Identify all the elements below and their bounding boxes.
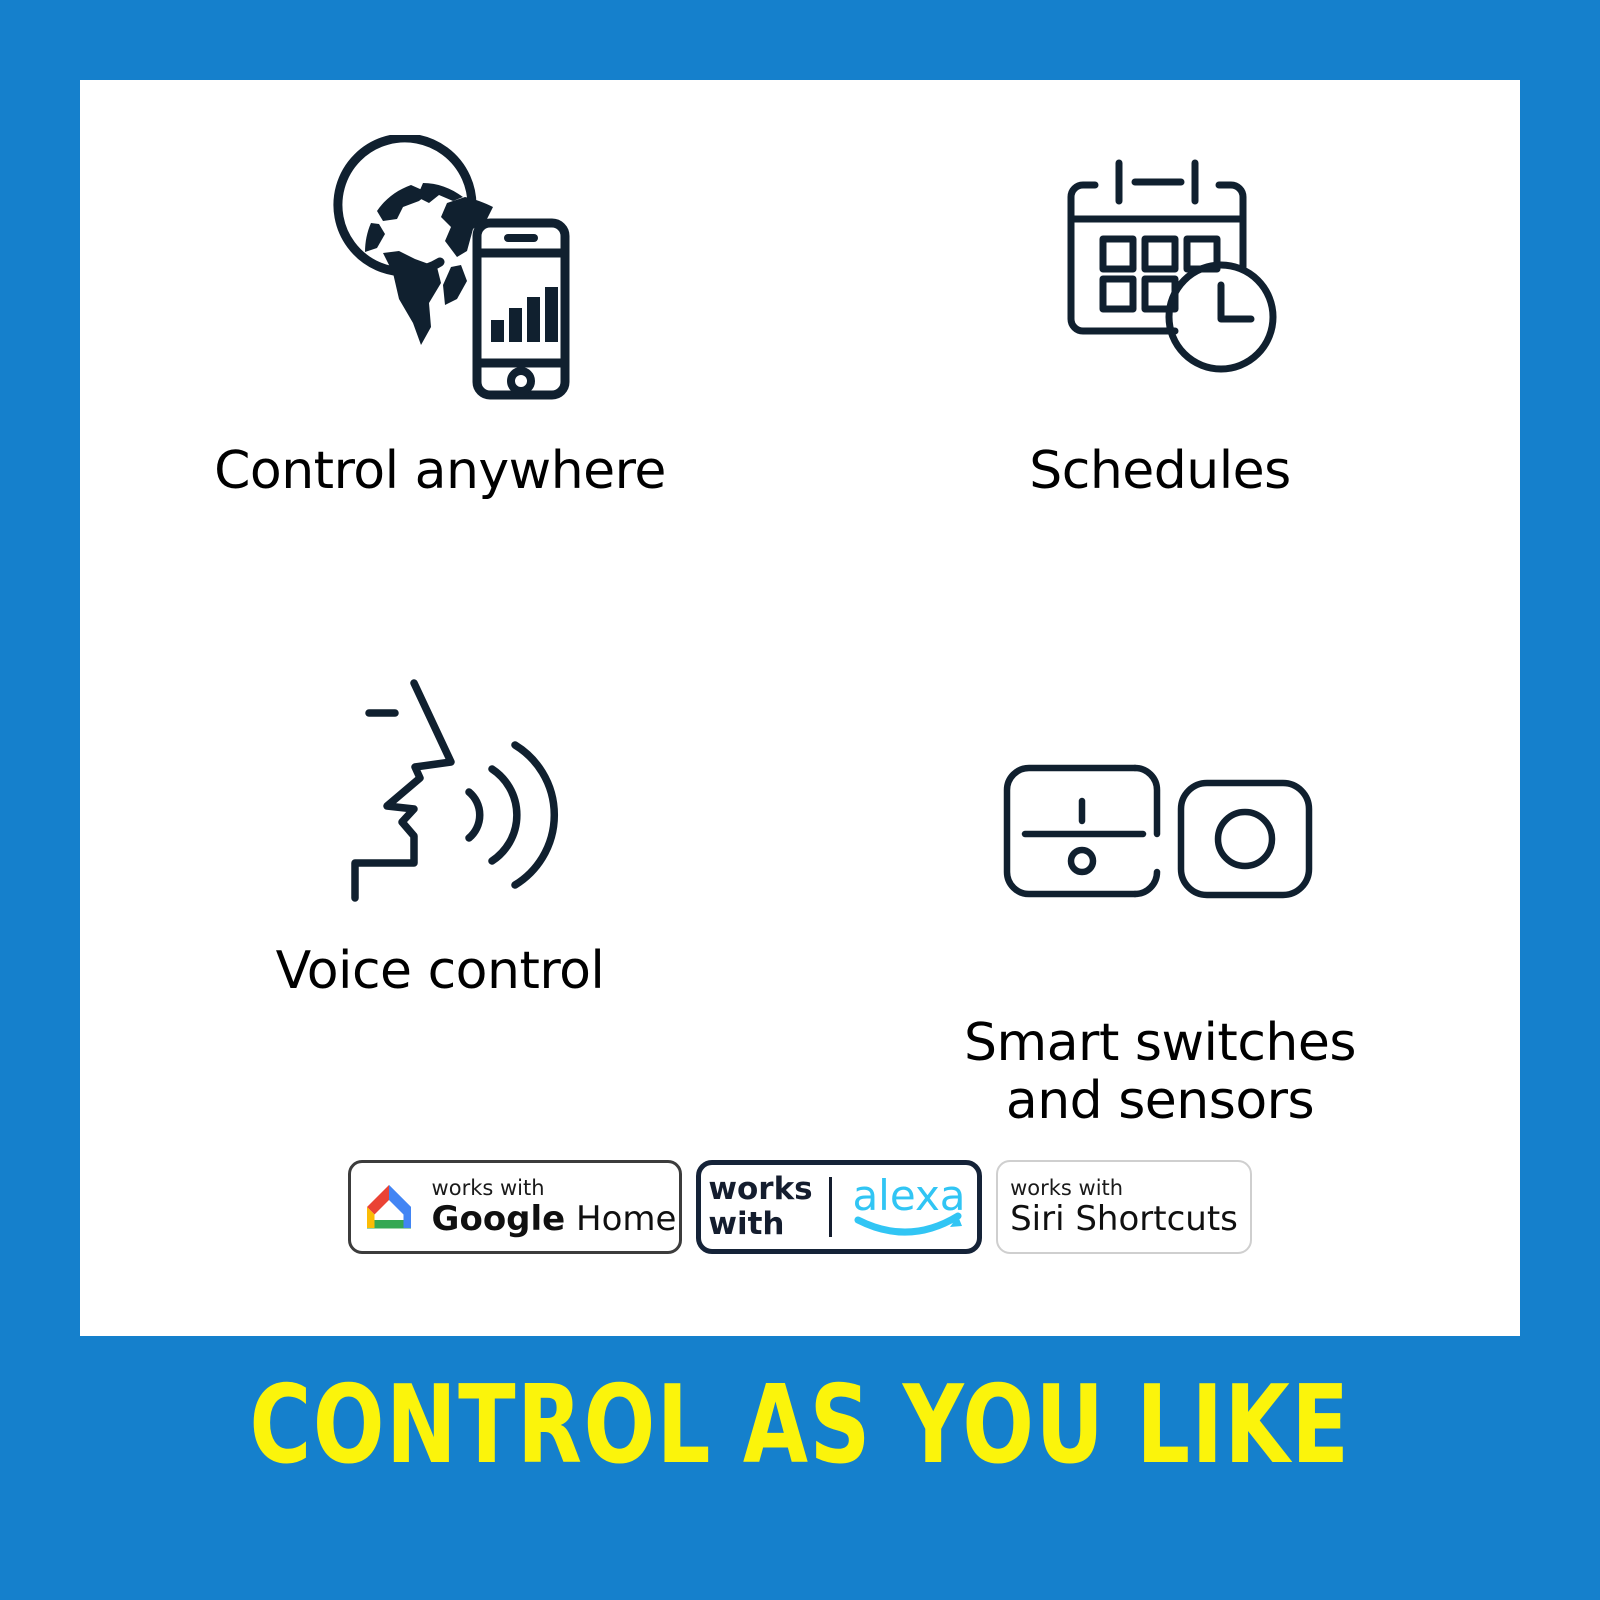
badge-brand-text: Siri Shortcuts (1010, 1202, 1238, 1238)
feature-label: Schedules (1029, 442, 1291, 500)
white-content-card: Control anywhere (80, 80, 1520, 1336)
home-word: Home (565, 1199, 676, 1239)
badge-brand-text: Google Home (432, 1202, 677, 1238)
feature-smart-switches-and-sensors: Smart switches and sensors (800, 596, 1520, 1130)
alexa-logo: alexa (848, 1174, 970, 1240)
google-home-text: works with Google Home (432, 1177, 677, 1238)
svg-text:alexa: alexa (852, 1174, 965, 1220)
badge-works-with-siri-shortcuts[interactable]: works with Siri Shortcuts (996, 1160, 1252, 1254)
feature-label: Smart switches and sensors (964, 1014, 1356, 1130)
alexa-works-with-text: works with (708, 1172, 812, 1241)
badge-small-text: works with (1010, 1177, 1238, 1199)
feature-voice-control: Voice control (80, 596, 800, 1130)
feature-label: Voice control (276, 942, 605, 1000)
speaking-head-icon (315, 596, 565, 924)
switch-sensor-icon (985, 596, 1335, 976)
compatibility-badges: works with Google Home works with alexa (80, 1160, 1520, 1254)
calendar-clock-icon (1035, 80, 1285, 420)
feature-grid: Control anywhere (80, 80, 1520, 1130)
feature-schedules: Schedules (800, 80, 1520, 596)
alexa-divider (829, 1177, 832, 1237)
alexa-line-2: with (708, 1207, 784, 1242)
alexa-line-1: works (708, 1172, 812, 1207)
poster-headline: CONTROL AS YOU LIKE (176, 1372, 1424, 1480)
google-word: Google (432, 1199, 566, 1239)
feature-label: Control anywhere (214, 442, 666, 500)
badge-works-with-alexa[interactable]: works with alexa (696, 1160, 982, 1254)
feature-control-anywhere: Control anywhere (80, 80, 800, 596)
promo-poster: Control anywhere (0, 0, 1600, 1600)
siri-text: works with Siri Shortcuts (1010, 1177, 1238, 1238)
google-home-house-icon (360, 1178, 418, 1236)
globe-phone-icon (305, 80, 575, 420)
badge-small-text: works with (432, 1177, 677, 1199)
badge-works-with-google-home[interactable]: works with Google Home (348, 1160, 682, 1254)
